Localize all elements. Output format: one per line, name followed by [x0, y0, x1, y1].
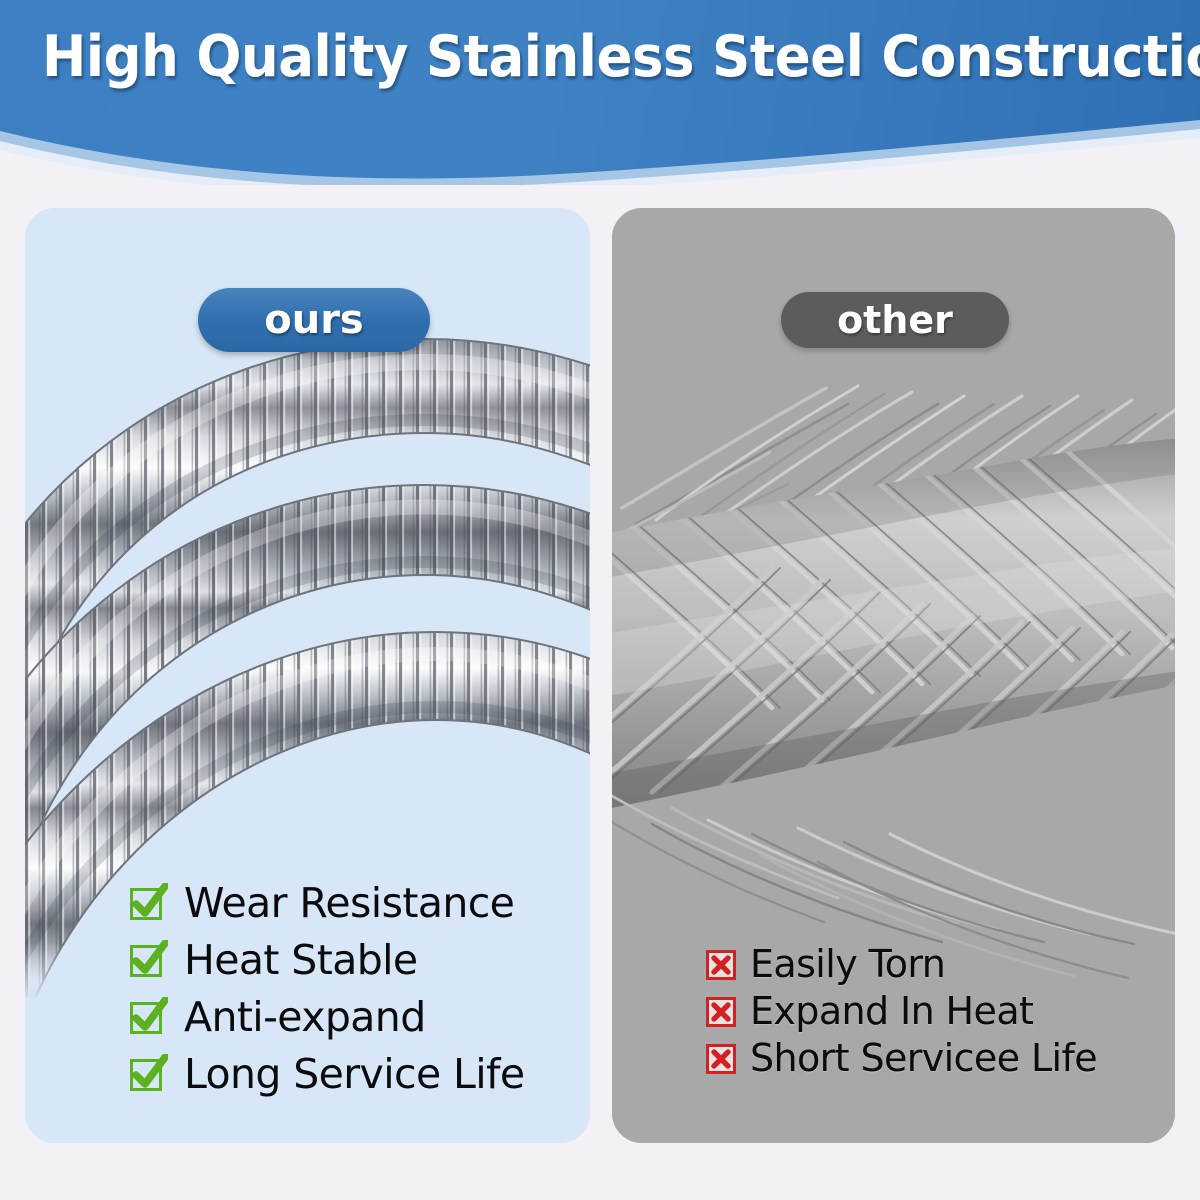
- cross-icon: [706, 950, 736, 980]
- badge-ours[interactable]: ours: [198, 288, 430, 352]
- list-item-label: Heat Stable: [184, 938, 418, 982]
- list-item-label: Easily Torn: [750, 944, 945, 985]
- badge-other[interactable]: other: [781, 292, 1009, 348]
- check-icon: [128, 940, 168, 980]
- list-item-label: Expand In Heat: [750, 991, 1033, 1032]
- list-item: Heat Stable: [128, 938, 525, 982]
- list-item: Wear Resistance: [128, 881, 525, 925]
- feature-list-other: Easily Torn Expand In Heat Short Service…: [706, 944, 1097, 1085]
- feature-list-ours: Wear Resistance Heat Stable Anti-expand …: [128, 881, 525, 1109]
- list-item-label: Short Servicee Life: [750, 1038, 1097, 1079]
- cross-icon: [706, 997, 736, 1027]
- check-icon: [128, 997, 168, 1037]
- cross-icon: [706, 1044, 736, 1074]
- badge-other-label: other: [837, 298, 953, 342]
- list-item-label: Wear Resistance: [184, 881, 514, 925]
- list-item: Long Service Life: [128, 1052, 525, 1096]
- page-title: High Quality Stainless Steel Constructio…: [42, 28, 1158, 88]
- list-item: Short Servicee Life: [706, 1038, 1097, 1079]
- check-icon: [128, 883, 168, 923]
- list-item-label: Long Service Life: [184, 1052, 525, 1096]
- check-icon: [128, 1054, 168, 1094]
- list-item: Easily Torn: [706, 944, 1097, 985]
- header-banner: High Quality Stainless Steel Constructio…: [0, 0, 1200, 185]
- list-item: Anti-expand: [128, 995, 525, 1039]
- badge-ours-label: ours: [264, 297, 364, 343]
- list-item: Expand In Heat: [706, 991, 1097, 1032]
- list-item-label: Anti-expand: [184, 995, 426, 1039]
